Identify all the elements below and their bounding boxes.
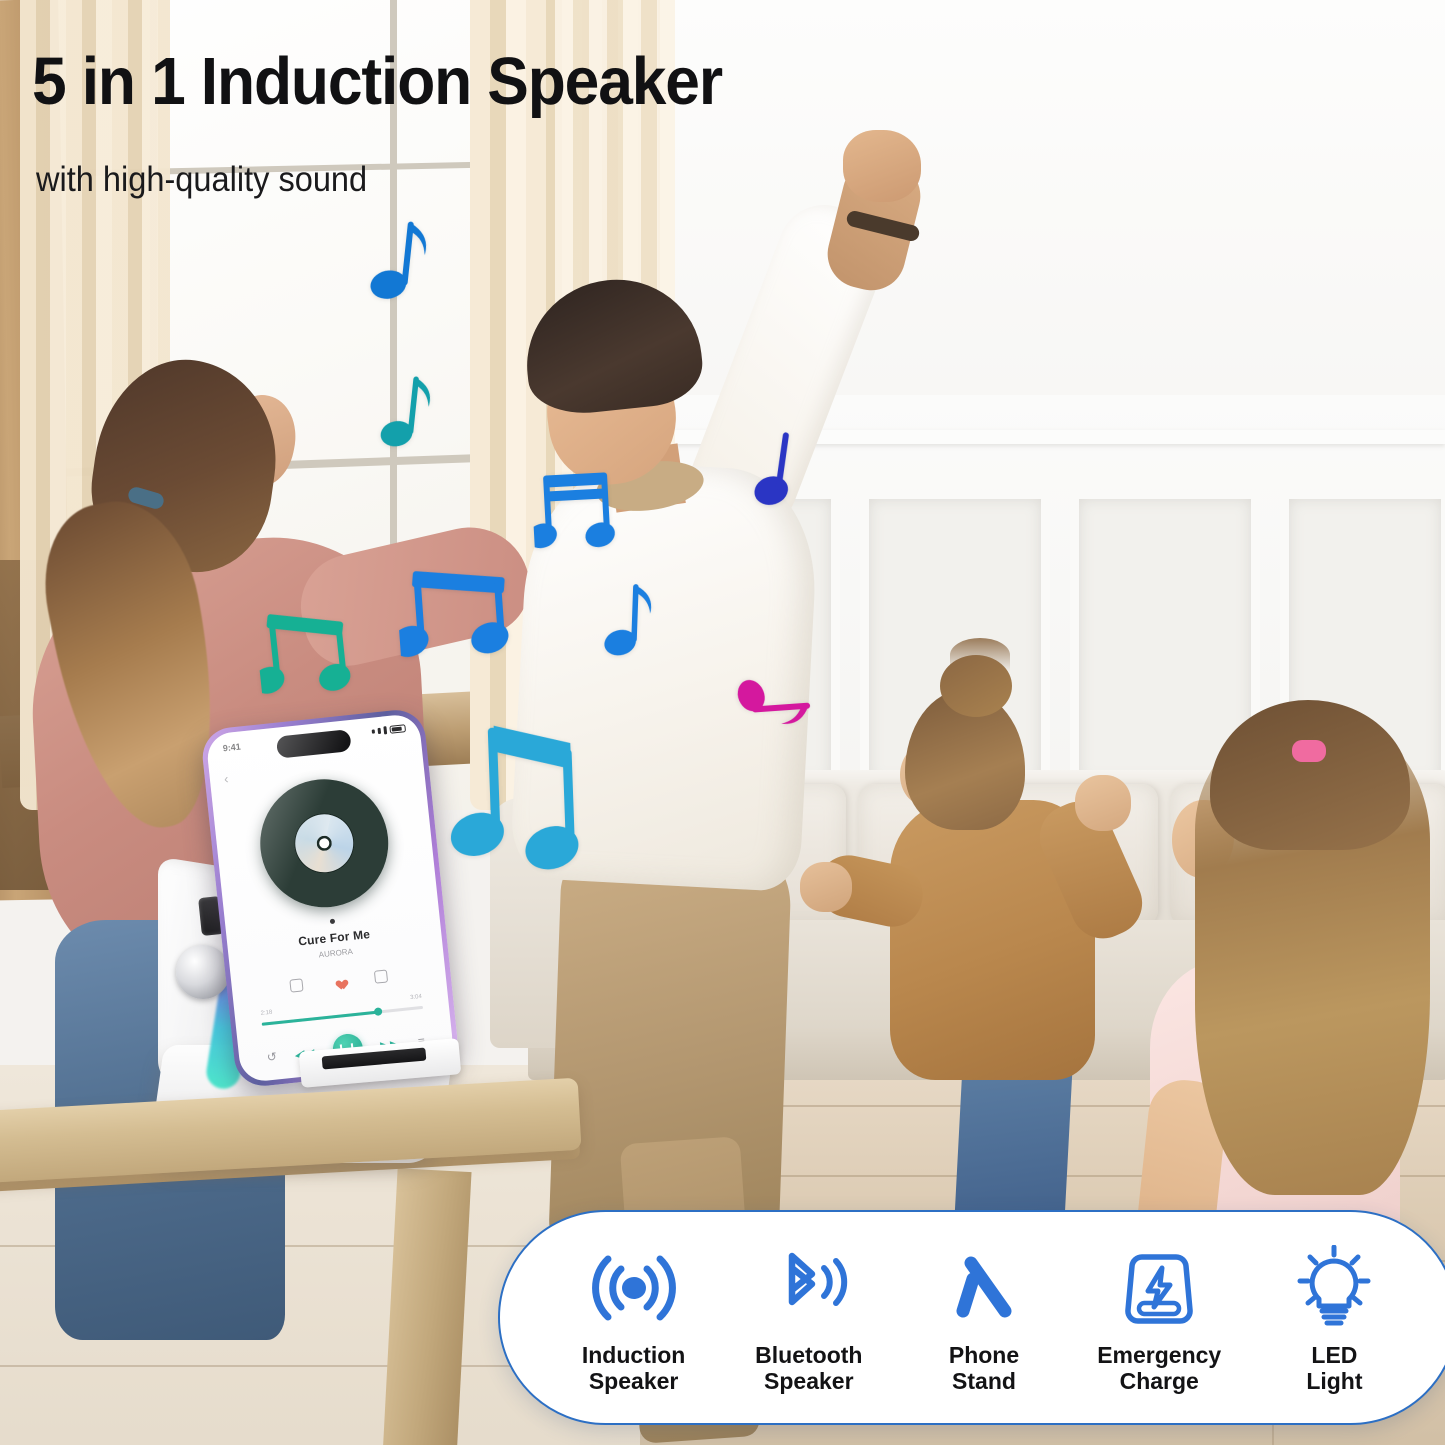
feature-label-line1: Emergency: [1097, 1342, 1221, 1368]
feature-bar: Induction Speaker Bluetooth Speaker: [498, 1210, 1445, 1425]
share-icon[interactable]: [374, 969, 388, 983]
feature-phone-stand[interactable]: Phone Stand: [896, 1242, 1071, 1394]
time-total: 3:04: [410, 994, 422, 1001]
feature-label-line2: Charge: [1120, 1368, 1199, 1394]
album-art-vinyl: [254, 773, 395, 914]
feature-label-line2: Light: [1306, 1368, 1362, 1394]
progress-slider[interactable]: [262, 1006, 423, 1025]
music-note-eighth: [732, 673, 818, 739]
music-note-beamed-pair: [531, 468, 621, 558]
feature-label-line1: LED: [1311, 1342, 1357, 1368]
page-title: 5 in 1 Induction Speaker: [32, 48, 722, 115]
feature-label: Emergency Charge: [1097, 1342, 1221, 1394]
shuffle-icon[interactable]: ↺: [266, 1050, 277, 1063]
signal-icon: [372, 729, 375, 733]
phone-frame: 9:41 ‹ Cure For Me AURORA: [200, 707, 460, 1088]
music-note-eighth: [367, 212, 438, 308]
emergency-charge-icon: [1121, 1242, 1197, 1334]
led-light-icon: [1292, 1242, 1376, 1334]
feature-label: Bluetooth Speaker: [755, 1342, 862, 1394]
music-note-eighth: [603, 577, 662, 661]
phone-notch: [276, 729, 352, 759]
phone-stand-icon: [943, 1242, 1025, 1334]
status-bar-indicators: [371, 724, 406, 736]
table-leg: [382, 1168, 471, 1445]
signal-icon: [383, 726, 387, 734]
page-dot-indicator: [330, 919, 335, 924]
music-note-beamed-pair: [395, 558, 522, 666]
volume-knob[interactable]: [176, 945, 230, 999]
battery-icon: [389, 724, 406, 734]
feature-label-line2: Stand: [952, 1368, 1016, 1394]
equalizer-icon[interactable]: [289, 978, 303, 992]
feature-induction-speaker[interactable]: Induction Speaker: [546, 1242, 721, 1394]
smartphone[interactable]: 9:41 ‹ Cure For Me AURORA: [200, 707, 460, 1088]
music-note-beamed-pair: [253, 599, 362, 705]
feature-label-line1: Bluetooth: [755, 1342, 862, 1368]
feature-label-line1: Phone: [949, 1342, 1019, 1368]
feature-label-line2: Speaker: [589, 1368, 679, 1394]
feature-led-light[interactable]: LED Light: [1247, 1242, 1422, 1394]
back-chevron-icon[interactable]: ‹: [223, 771, 229, 786]
time-elapsed: 2:18: [260, 1010, 272, 1017]
status-bar-time: 9:41: [222, 742, 241, 754]
feature-label-line1: Induction: [582, 1342, 685, 1368]
product-marketing-image: 9:41 ‹ Cure For Me AURORA: [0, 0, 1445, 1445]
induction-speaker-icon: [591, 1242, 677, 1334]
feature-label: Phone Stand: [949, 1342, 1019, 1394]
page-subtitle: with high-quality sound: [36, 160, 367, 200]
track-action-row: [232, 963, 446, 998]
feature-emergency-charge[interactable]: Emergency Charge: [1072, 1242, 1247, 1394]
music-note-eighth: [378, 367, 442, 454]
feature-label-line2: Speaker: [764, 1368, 854, 1394]
bluetooth-speaker-icon: [766, 1242, 852, 1334]
music-note-beamed-pair: [437, 712, 592, 873]
phone-screen[interactable]: 9:41 ‹ Cure For Me AURORA: [205, 713, 454, 1083]
feature-label: Induction Speaker: [582, 1342, 685, 1394]
feature-bluetooth-speaker[interactable]: Bluetooth Speaker: [721, 1242, 896, 1394]
heart-icon[interactable]: [332, 974, 345, 987]
signal-icon: [378, 728, 382, 734]
music-note-quarter: [751, 427, 814, 511]
feature-label: LED Light: [1306, 1342, 1362, 1394]
